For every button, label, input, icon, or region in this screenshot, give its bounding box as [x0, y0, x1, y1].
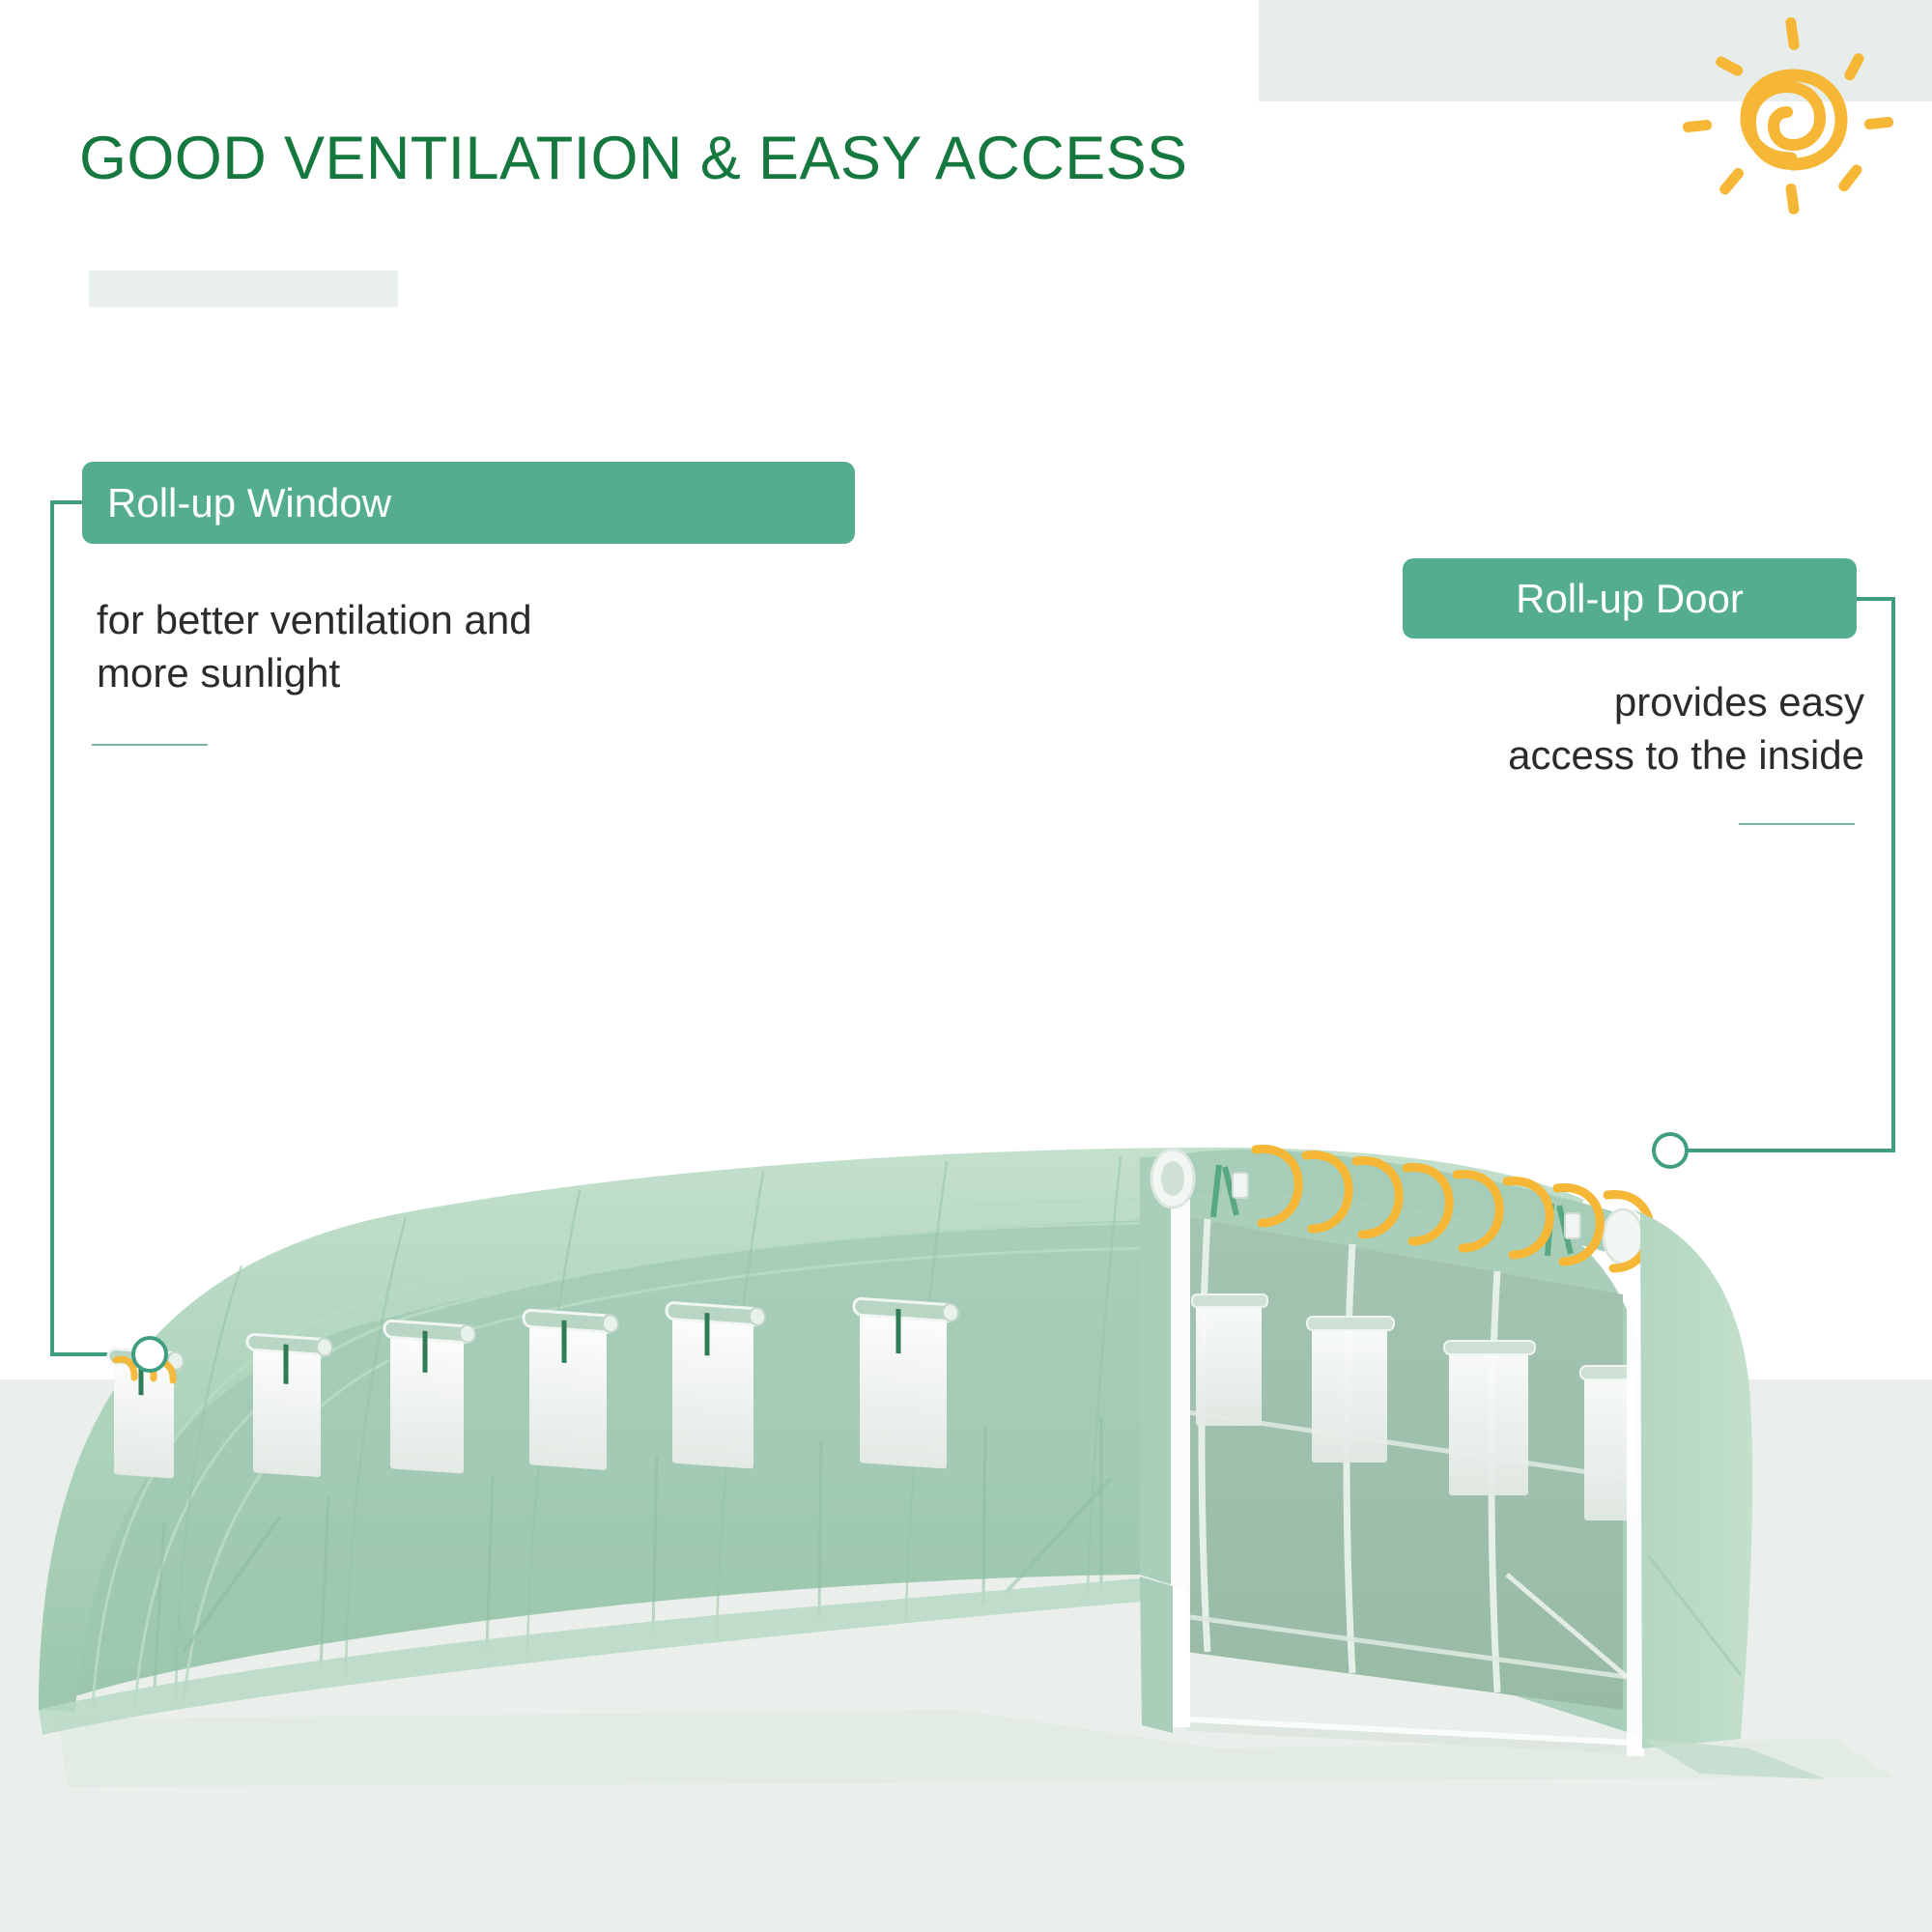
roll-up-window: [247, 1334, 332, 1477]
greenhouse-illustration: [0, 976, 1932, 1816]
callout-description-roll-up-door: provides easy access to the inside: [1352, 676, 1864, 781]
callout-description-line: for better ventilation and: [97, 594, 773, 647]
callout-label: Roll-up Window: [107, 480, 391, 526]
callout-chip-roll-up-door[interactable]: Roll-up Door: [1403, 558, 1857, 639]
infographic-canvas: GOOD VENTILATION & EASY ACCESS: [0, 0, 1932, 1932]
page-title: GOOD VENTILATION & EASY ACCESS: [79, 124, 1187, 193]
roll-up-window: [384, 1321, 475, 1474]
callout-rule: [92, 744, 208, 746]
roll-up-window: [854, 1298, 958, 1469]
window-endpoint-marker: [131, 1336, 168, 1373]
callout-description-line: access to the inside: [1352, 729, 1864, 782]
roll-up-window: [524, 1310, 618, 1470]
roll-up-window: [667, 1302, 765, 1468]
sun-spiral-icon: [1683, 12, 1907, 219]
door-endpoint-marker: [1652, 1132, 1689, 1169]
title-underbar: [89, 270, 398, 307]
callout-chip-roll-up-window[interactable]: Roll-up Window: [82, 462, 855, 544]
callout-description-roll-up-window: for better ventilation and more sunlight: [97, 594, 773, 699]
callout-label: Roll-up Door: [1516, 576, 1744, 622]
callout-rule: [1739, 823, 1855, 825]
callout-description-line: more sunlight: [97, 647, 773, 700]
callout-description-line: provides easy: [1352, 676, 1864, 729]
